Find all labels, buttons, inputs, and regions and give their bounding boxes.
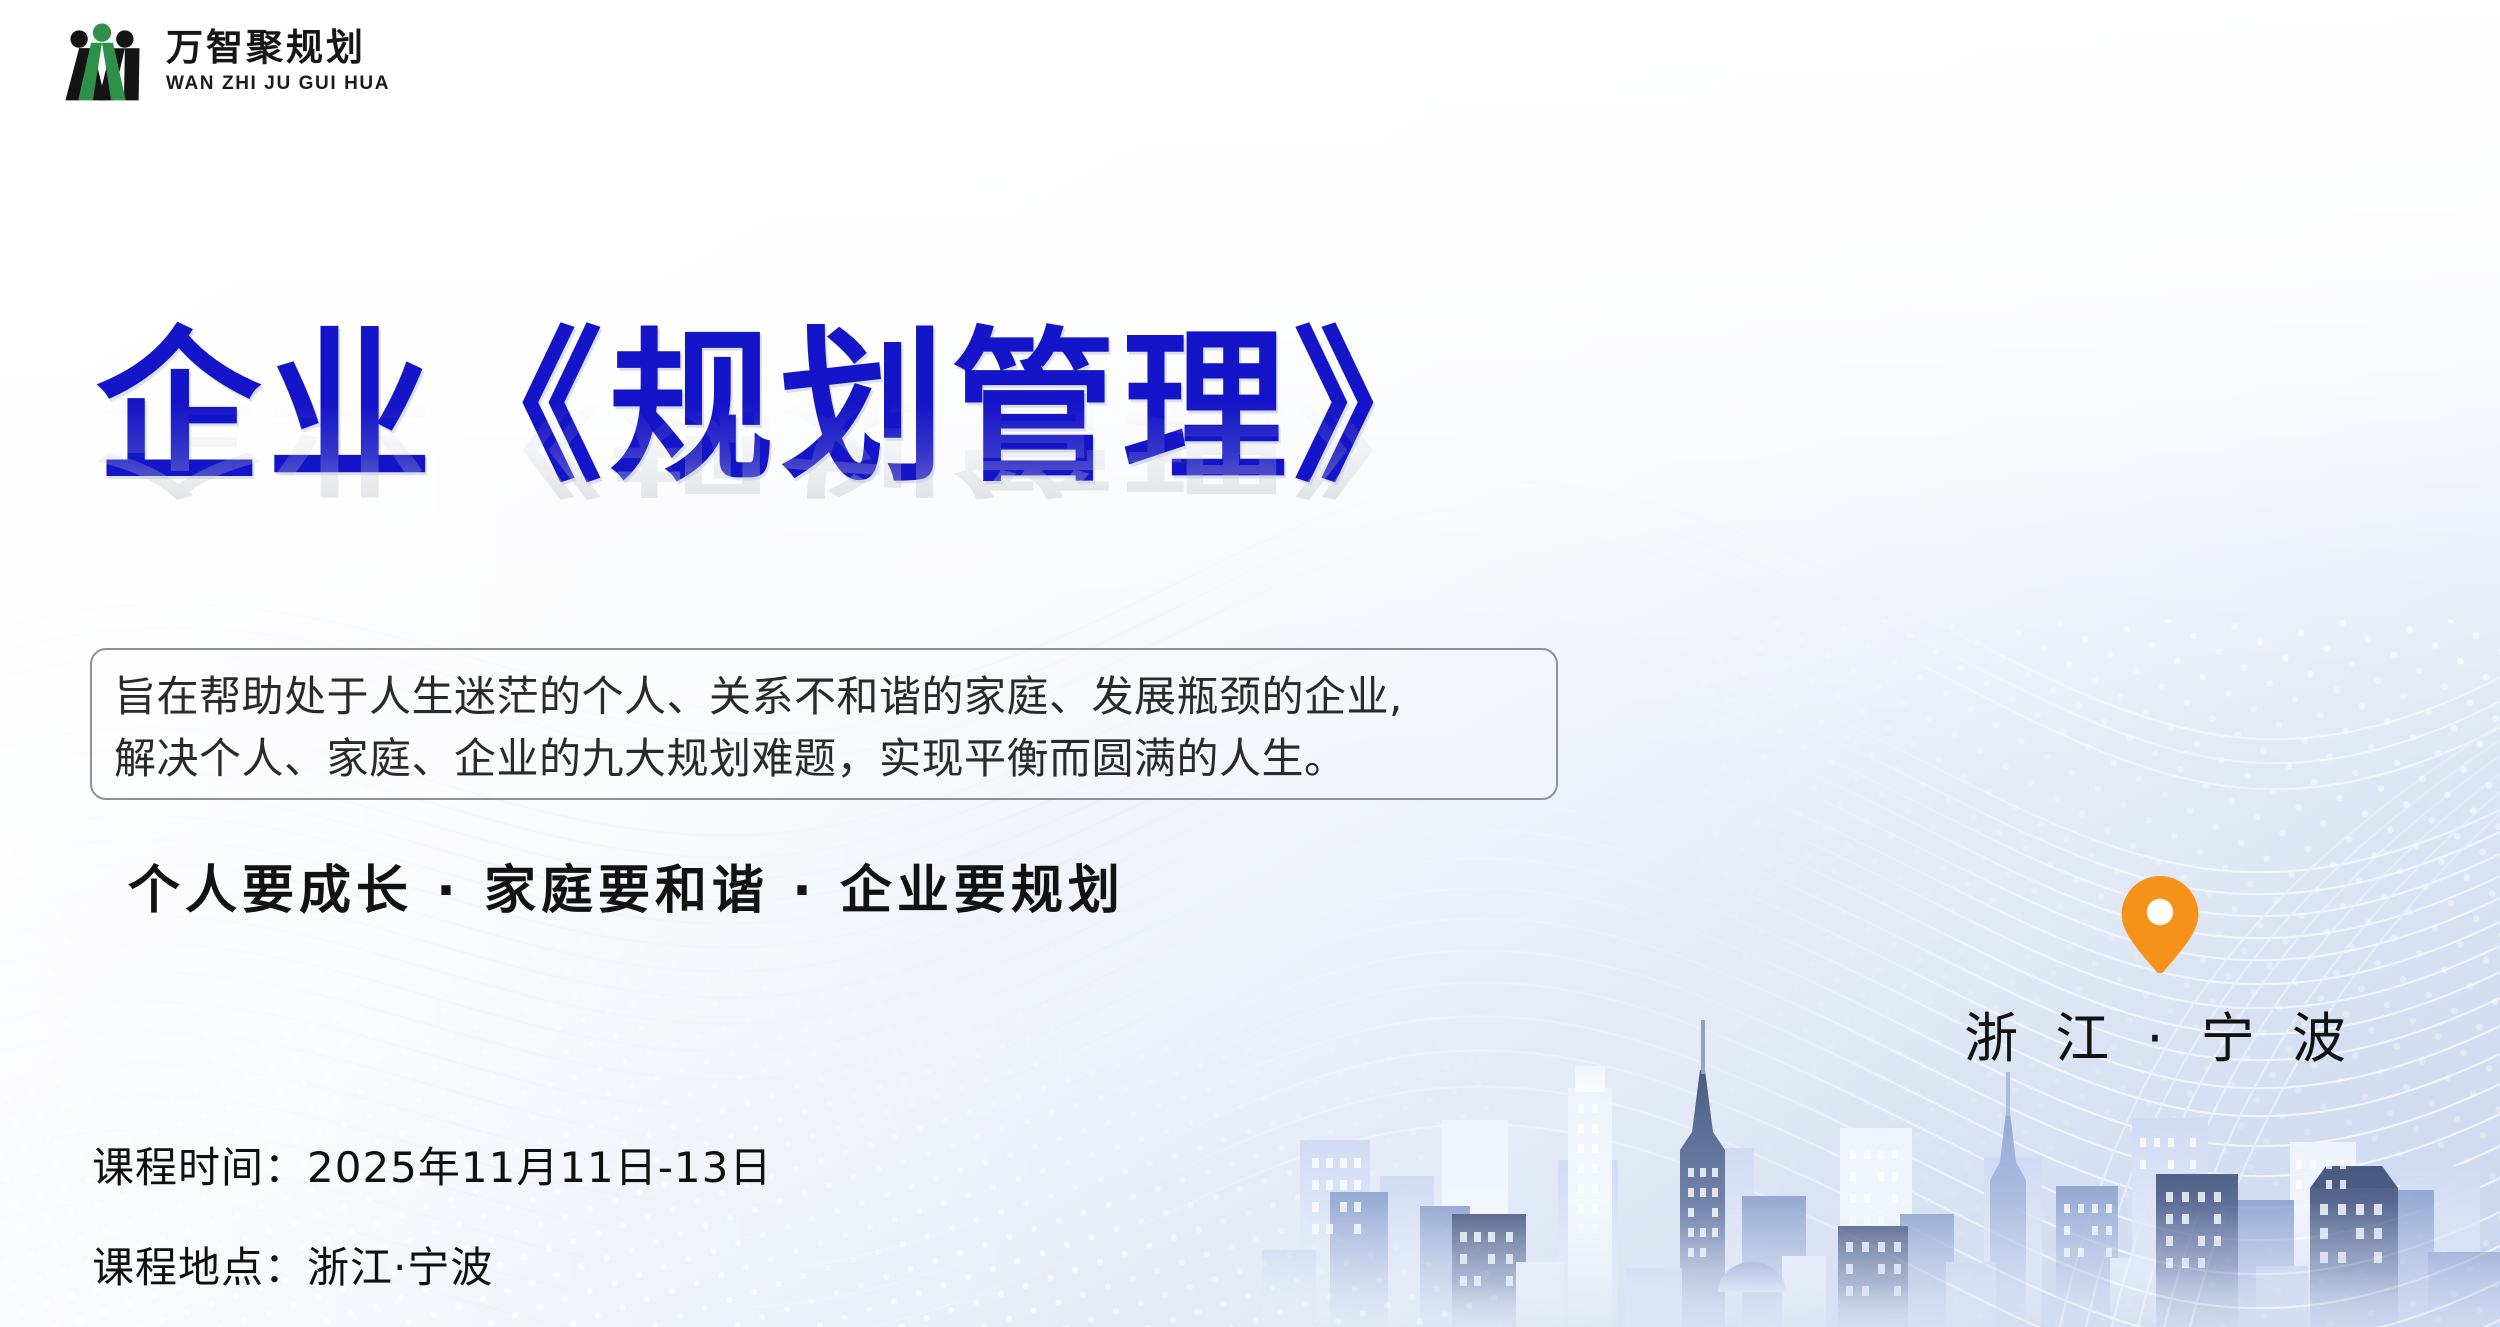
hero-title-block: 企业《规划管理》 企业《规划管理》: [96, 322, 1596, 622]
tagline: 个人要成长 · 家庭要和谐 · 企业要规划: [128, 848, 1125, 923]
course-time: 课程时间：2025年11月11日-13日: [92, 1118, 772, 1218]
poster-canvas: 万智聚规划 WAN ZHI JU GUI HUA 企业《规划管理》 企业《规划管…: [0, 0, 2500, 1327]
map-pin-icon: [2118, 872, 2202, 976]
page-title: 企业《规划管理》: [96, 322, 1596, 495]
description-line-1: 旨在帮助处于人生迷茫的个人、关系不和谐的家庭、发展瓶颈的企业,: [114, 666, 1534, 728]
brand-wordmark: 万智聚规划 WAN ZHI JU GUI HUA: [166, 30, 390, 93]
brand-name-cn: 万智聚规划: [166, 30, 390, 67]
course-place: 课程地点：浙江·宁波: [92, 1218, 772, 1318]
course-info-block: 课程时间：2025年11月11日-13日 课程地点：浙江·宁波: [92, 1118, 772, 1318]
location-text: 浙 江 · 宁 波: [1964, 994, 2356, 1073]
three-people-m-logo-icon: [56, 18, 148, 104]
location-badge: 浙 江 · 宁 波: [1960, 872, 2360, 1073]
brand-name-pinyin: WAN ZHI JU GUI HUA: [166, 74, 390, 93]
description-line-2: 解决个人、家庭、企业的九大规划难题，实现平衡而圆满的人生。: [114, 728, 1534, 790]
description-box: 旨在帮助处于人生迷茫的个人、关系不和谐的家庭、发展瓶颈的企业, 解决个人、家庭、…: [90, 648, 1558, 800]
brand-logo: 万智聚规划 WAN ZHI JU GUI HUA: [56, 18, 390, 104]
